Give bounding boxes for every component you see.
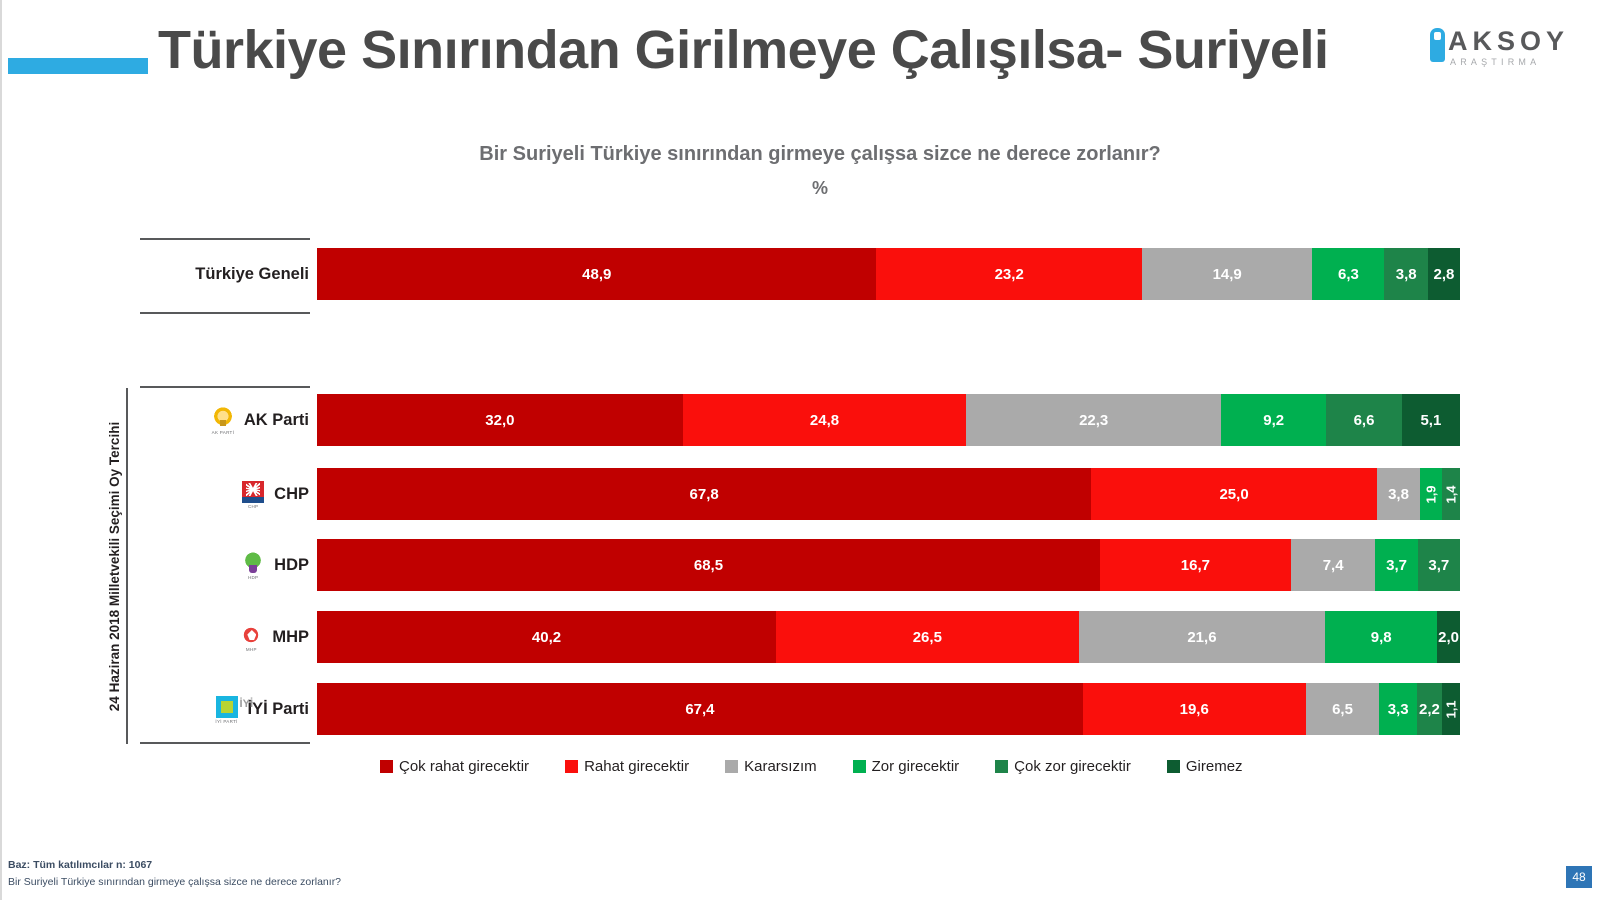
bar-segment-value: 16,7 [1181, 557, 1210, 574]
legend-label: Çok rahat girecektir [399, 758, 529, 775]
footer-question-line: Bir Suriyeli Türkiye sınırından girmeye … [8, 874, 341, 890]
legend-swatch-icon [853, 760, 866, 773]
legend-item[interactable]: Kararsızım [725, 758, 817, 775]
chart-row: İYİİYİ PARTİİYİ Parti67,419,66,53,32,21,… [140, 681, 1460, 737]
bar-segment-value: 68,5 [694, 557, 723, 574]
bar-segment: 3,8 [1377, 468, 1420, 520]
row-label: İYİ Parti [248, 700, 309, 719]
bar-segment-value: 24,8 [810, 412, 839, 429]
legend-label: Kararsızım [744, 758, 817, 775]
overall-rule-top [140, 238, 310, 240]
bar-segment-value: 3,7 [1386, 557, 1407, 574]
legend-label: Rahat girecektir [584, 758, 689, 775]
bar-segment: 22,3 [966, 394, 1221, 446]
row-label: MHP [272, 628, 309, 647]
party-logo-caption: HDP [240, 575, 266, 580]
bar-segment: 7,4 [1291, 539, 1376, 591]
row-label: Türkiye Geneli [195, 265, 309, 284]
legend-swatch-icon [995, 760, 1008, 773]
legend-label: Çok zor girecektir [1014, 758, 1131, 775]
stacked-bar: 67,825,03,81,91,4 [317, 468, 1460, 520]
legend-swatch-icon [1167, 760, 1180, 773]
iyiparti-logo-icon: İYİİYİ PARTİ [214, 695, 240, 723]
bar-segment: 6,6 [1326, 394, 1401, 446]
bar-segment-value: 1,4 [1443, 485, 1458, 503]
bar-segment: 21,6 [1079, 611, 1326, 663]
slide-root: Türkiye Sınırından Girilmeye Çalışılsa- … [0, 0, 1602, 900]
row-label-box: AK PARTİAK Parti [140, 392, 317, 448]
chart-row: Türkiye Geneli48,923,214,96,33,82,8 [140, 246, 1460, 302]
bar-segment: 40,2 [317, 611, 776, 663]
legend-swatch-icon [380, 760, 393, 773]
footer-note: Baz: Tüm katılımcılar n: 1067 Bir Suriye… [8, 857, 341, 890]
bar-segment: 1,1 [1442, 683, 1460, 735]
hdp-logo-icon: HDP [240, 551, 266, 579]
stacked-bar: 40,226,521,69,82,0 [317, 611, 1460, 663]
chart-row: MHPMHP40,226,521,69,82,0 [140, 609, 1460, 665]
row-label: HDP [274, 556, 309, 575]
bar-segment-value: 1,1 [1443, 700, 1458, 718]
bar-segment-value: 48,9 [582, 266, 611, 283]
row-label-box: İYİİYİ PARTİİYİ Parti [140, 681, 317, 737]
bar-segment: 3,8 [1384, 248, 1427, 300]
bar-segment-value: 1,9 [1424, 485, 1439, 503]
mhp-logo-icon: MHP [238, 623, 264, 651]
row-label: CHP [274, 485, 309, 504]
bar-segment: 5,1 [1402, 394, 1460, 446]
overall-rule-bottom [140, 312, 310, 314]
bar-segment: 9,8 [1325, 611, 1437, 663]
bar-segment-value: 67,8 [690, 486, 719, 503]
bar-segment-value: 6,6 [1354, 412, 1375, 429]
page-number-badge: 48 [1566, 866, 1592, 888]
party-axis-caption-text: 24 Haziran 2018 Milletvekili Seçimi Oy T… [108, 421, 123, 710]
stacked-bar: 67,419,66,53,32,21,1 [317, 683, 1460, 735]
bar-segment: 1,9 [1420, 468, 1442, 520]
akparti-logo-icon: AK PARTİ [210, 406, 236, 434]
bar-segment-value: 40,2 [532, 629, 561, 646]
legend-swatch-icon [565, 760, 578, 773]
bar-segment: 26,5 [776, 611, 1079, 663]
bar-segment: 23,2 [876, 248, 1141, 300]
legend-item[interactable]: Çok zor girecektir [995, 758, 1131, 775]
chart-row: AK PARTİAK Parti32,024,822,39,26,65,1 [140, 392, 1460, 448]
bar-segment: 9,2 [1221, 394, 1326, 446]
bar-segment-value: 14,9 [1213, 266, 1242, 283]
bar-segment-value: 3,3 [1388, 701, 1409, 718]
party-logo-caption: AK PARTİ [210, 430, 236, 435]
row-label-box: CHPCHP [140, 466, 317, 522]
bar-segment: 25,0 [1091, 468, 1377, 520]
bar-segment-value: 2,8 [1434, 266, 1455, 283]
legend-item[interactable]: Rahat girecektir [565, 758, 689, 775]
bar-segment: 16,7 [1100, 539, 1291, 591]
bar-segment: 48,9 [317, 248, 876, 300]
legend-item[interactable]: Çok rahat girecektir [380, 758, 529, 775]
party-group-rule-top [140, 386, 310, 388]
bar-segment-value: 2,2 [1419, 701, 1440, 718]
legend-item[interactable]: Giremez [1167, 758, 1243, 775]
party-logo-caption: CHP [240, 504, 266, 509]
bar-segment-value: 6,3 [1338, 266, 1359, 283]
legend-item[interactable]: Zor girecektir [853, 758, 960, 775]
bar-segment-value: 3,8 [1396, 266, 1417, 283]
bar-segment-value: 3,8 [1388, 486, 1409, 503]
party-logo-caption: MHP [238, 647, 264, 652]
bar-segment-value: 26,5 [913, 629, 942, 646]
chart-row: CHPCHP67,825,03,81,91,4 [140, 466, 1460, 522]
bar-segment: 2,2 [1417, 683, 1442, 735]
bar-segment-value: 7,4 [1323, 557, 1344, 574]
footer-base-line: Baz: Tüm katılımcılar n: 1067 [8, 857, 341, 873]
bar-segment: 3,7 [1418, 539, 1460, 591]
bar-segment: 2,8 [1428, 248, 1460, 300]
bar-segment-value: 21,6 [1187, 629, 1216, 646]
bar-segment: 32,0 [317, 394, 683, 446]
bar-segment: 6,5 [1306, 683, 1380, 735]
party-group-rule-bottom [140, 742, 310, 744]
bar-segment-value: 32,0 [485, 412, 514, 429]
bar-segment: 1,4 [1442, 468, 1460, 520]
bar-segment: 67,4 [317, 683, 1083, 735]
bar-segment-value: 25,0 [1219, 486, 1248, 503]
bar-segment: 3,7 [1375, 539, 1417, 591]
stacked-bar: 48,923,214,96,33,82,8 [317, 248, 1460, 300]
stacked-bar: 68,516,77,43,73,7 [317, 539, 1460, 591]
bar-segment-value: 9,8 [1371, 629, 1392, 646]
bar-segment: 14,9 [1142, 248, 1312, 300]
legend-swatch-icon [725, 760, 738, 773]
bar-segment: 68,5 [317, 539, 1100, 591]
row-label-box: MHPMHP [140, 609, 317, 665]
bar-segment-value: 3,7 [1428, 557, 1449, 574]
bar-segment-value: 9,2 [1263, 412, 1284, 429]
chart-row: HDPHDP68,516,77,43,73,7 [140, 537, 1460, 593]
bar-segment: 3,3 [1379, 683, 1417, 735]
bar-segment: 67,8 [317, 468, 1091, 520]
stacked-bar: 32,024,822,39,26,65,1 [317, 394, 1460, 446]
party-logo-caption: İYİ PARTİ [214, 719, 240, 724]
bar-segment-value: 22,3 [1079, 412, 1108, 429]
row-label-box: HDPHDP [140, 537, 317, 593]
bar-segment: 19,6 [1083, 683, 1306, 735]
chart-legend: Çok rahat girecektirRahat girecektirKara… [380, 758, 1440, 775]
party-axis-caption: 24 Haziran 2018 Milletvekili Seçimi Oy T… [104, 388, 126, 744]
chp-logo-icon: CHP [240, 480, 266, 508]
bar-segment-value: 6,5 [1332, 701, 1353, 718]
bar-segment: 24,8 [683, 394, 966, 446]
bar-segment-value: 5,1 [1420, 412, 1441, 429]
bar-segment-value: 67,4 [685, 701, 714, 718]
row-label-box: Türkiye Geneli [140, 246, 317, 302]
bar-segment-value: 2,0 [1438, 629, 1459, 646]
bar-segment: 6,3 [1312, 248, 1384, 300]
party-axis-line [126, 388, 128, 744]
row-label: AK Parti [244, 411, 309, 430]
legend-label: Giremez [1186, 758, 1243, 775]
bar-segment-value: 19,6 [1180, 701, 1209, 718]
bar-segment-value: 23,2 [995, 266, 1024, 283]
legend-label: Zor girecektir [872, 758, 960, 775]
bar-segment: 2,0 [1437, 611, 1460, 663]
